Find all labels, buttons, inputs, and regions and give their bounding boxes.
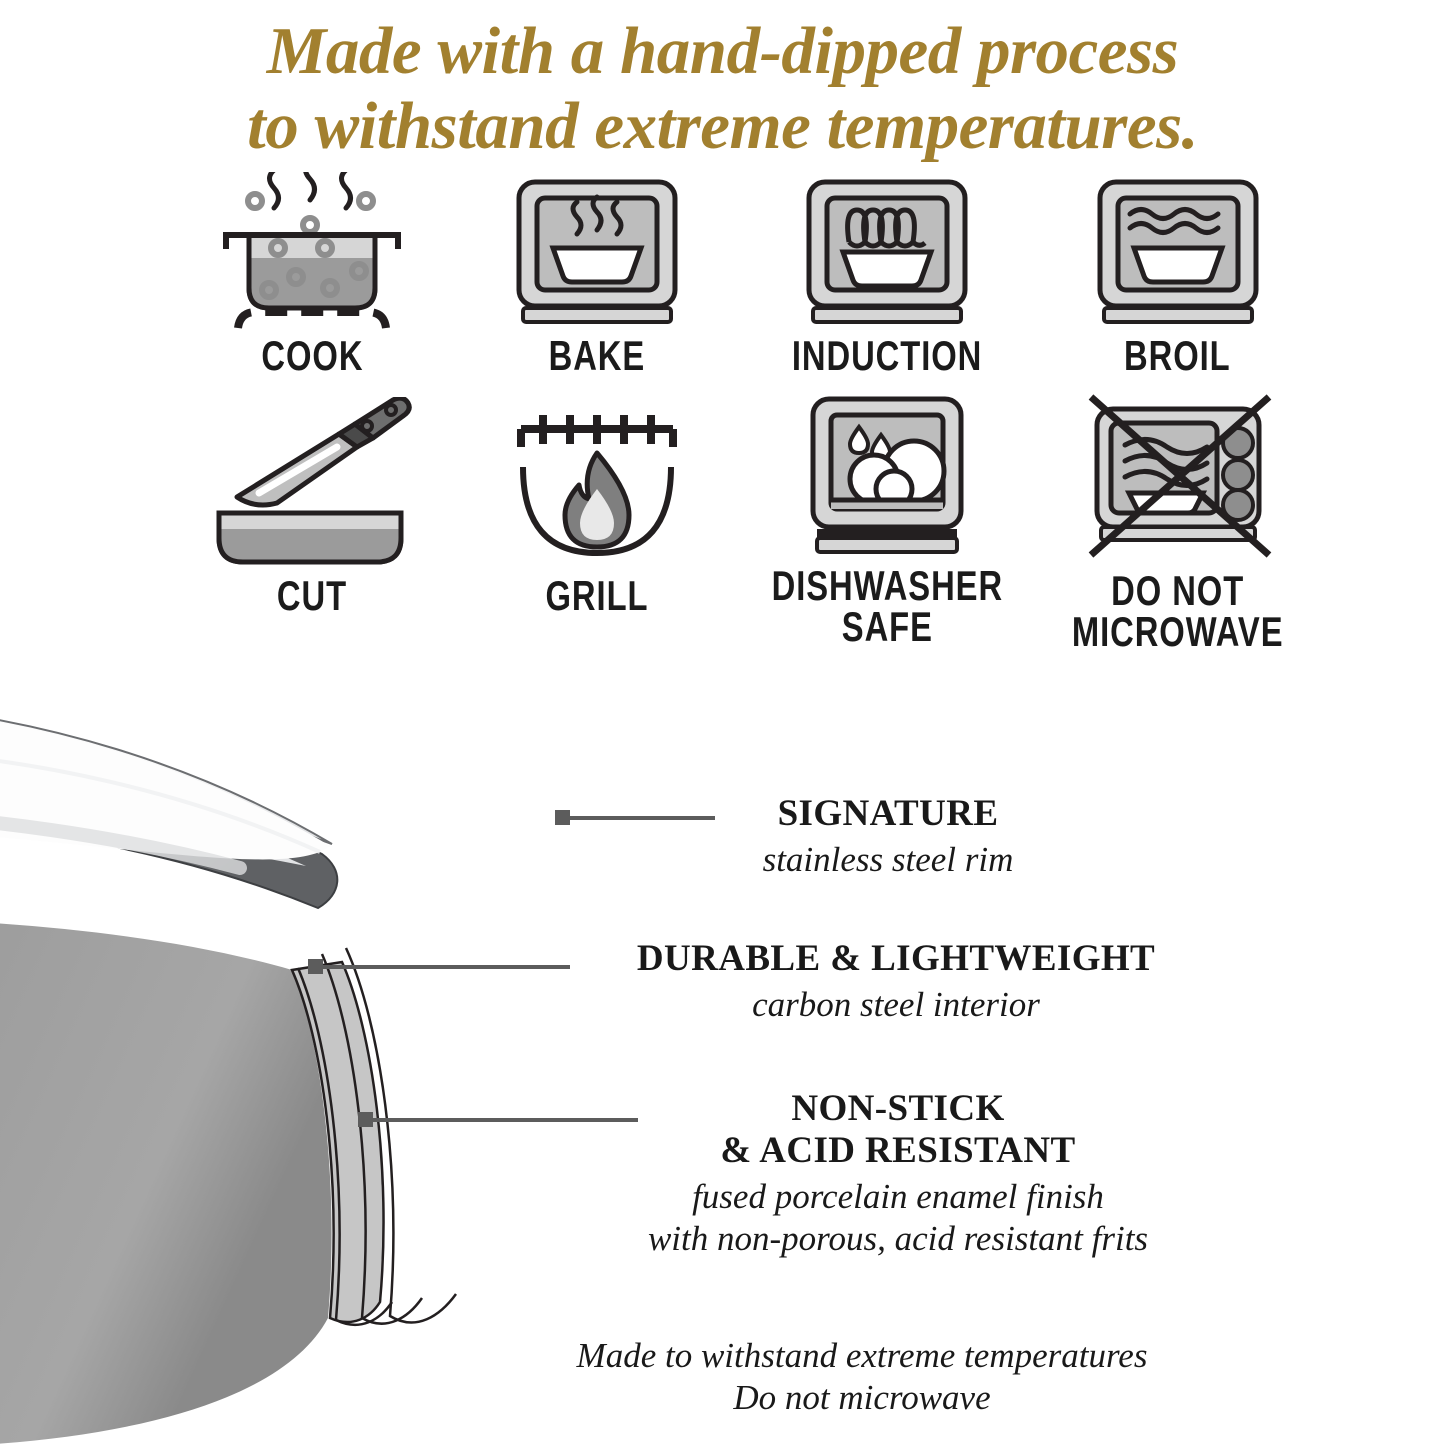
icon-cell-induction: INDUCTION	[739, 172, 1036, 387]
icon-cell-cut: CUT	[170, 387, 454, 637]
icon-label-cook: COOK	[261, 336, 363, 377]
callout-durable: DURABLE & LIGHTWEIGHT carbon steel inter…	[576, 938, 1216, 1026]
callout-subtitle-nonstick: fused porcelain enamel finish with non-p…	[548, 1176, 1248, 1260]
callout-signature: SIGNATURE stainless steel rim	[648, 793, 1128, 881]
icon-cell-broil: BROIL	[1036, 172, 1320, 387]
knife-over-pan-icon	[207, 387, 417, 572]
capability-icon-grid: COOK BAKE	[170, 172, 1320, 637]
oven-bake-icon	[497, 172, 697, 332]
callout-title-nonstick: NON-STICK & ACID RESISTANT	[548, 1088, 1248, 1172]
icon-label-broil: BROIL	[1124, 336, 1231, 377]
icon-cell-dishwasher-safe: DISHWASHER SAFE	[739, 387, 1036, 637]
grill-flame-icon	[497, 387, 697, 572]
footer-note: Made to withstand extreme temperatures D…	[372, 1335, 1352, 1419]
page-title: Made with a hand-dipped process to withs…	[0, 14, 1445, 164]
callout-subtitle-durable: carbon steel interior	[576, 984, 1216, 1026]
callout-title-durable: DURABLE & LIGHTWEIGHT	[576, 938, 1216, 980]
callout-nonstick: NON-STICK & ACID RESISTANT fused porcela…	[548, 1088, 1248, 1260]
product-infographic: Made with a hand-dipped process to withs…	[0, 0, 1445, 1445]
headline-line-2: to withstand extreme temperatures.	[0, 89, 1445, 164]
pot-bubbling-icon	[212, 172, 412, 332]
icon-label-dishwasher-safe: DISHWASHER SAFE	[771, 566, 1002, 647]
icon-label-do-not-microwave: DO NOT MICROWAVE	[1072, 571, 1284, 652]
icon-label-cut: CUT	[277, 576, 347, 617]
icon-cell-do-not-microwave: DO NOT MICROWAVE	[1036, 387, 1320, 637]
oven-broil-icon	[1078, 172, 1278, 332]
callout-title-signature: SIGNATURE	[648, 793, 1128, 835]
icon-cell-cook: COOK	[170, 172, 454, 387]
pot-cross-section-illustration	[0, 618, 580, 1445]
headline-line-1: Made with a hand-dipped process	[0, 14, 1445, 89]
oven-induction-coil-icon	[787, 172, 987, 332]
callout-subtitle-signature: stainless steel rim	[648, 839, 1128, 881]
icon-label-induction: INDUCTION	[792, 336, 982, 377]
icon-cell-bake: BAKE	[454, 172, 738, 387]
microwave-crossed-out-icon	[1073, 387, 1283, 567]
icon-label-bake: BAKE	[548, 336, 645, 377]
dishwasher-icon	[787, 387, 987, 562]
icon-label-grill: GRILL	[545, 576, 648, 617]
icon-cell-grill: GRILL	[454, 387, 738, 637]
